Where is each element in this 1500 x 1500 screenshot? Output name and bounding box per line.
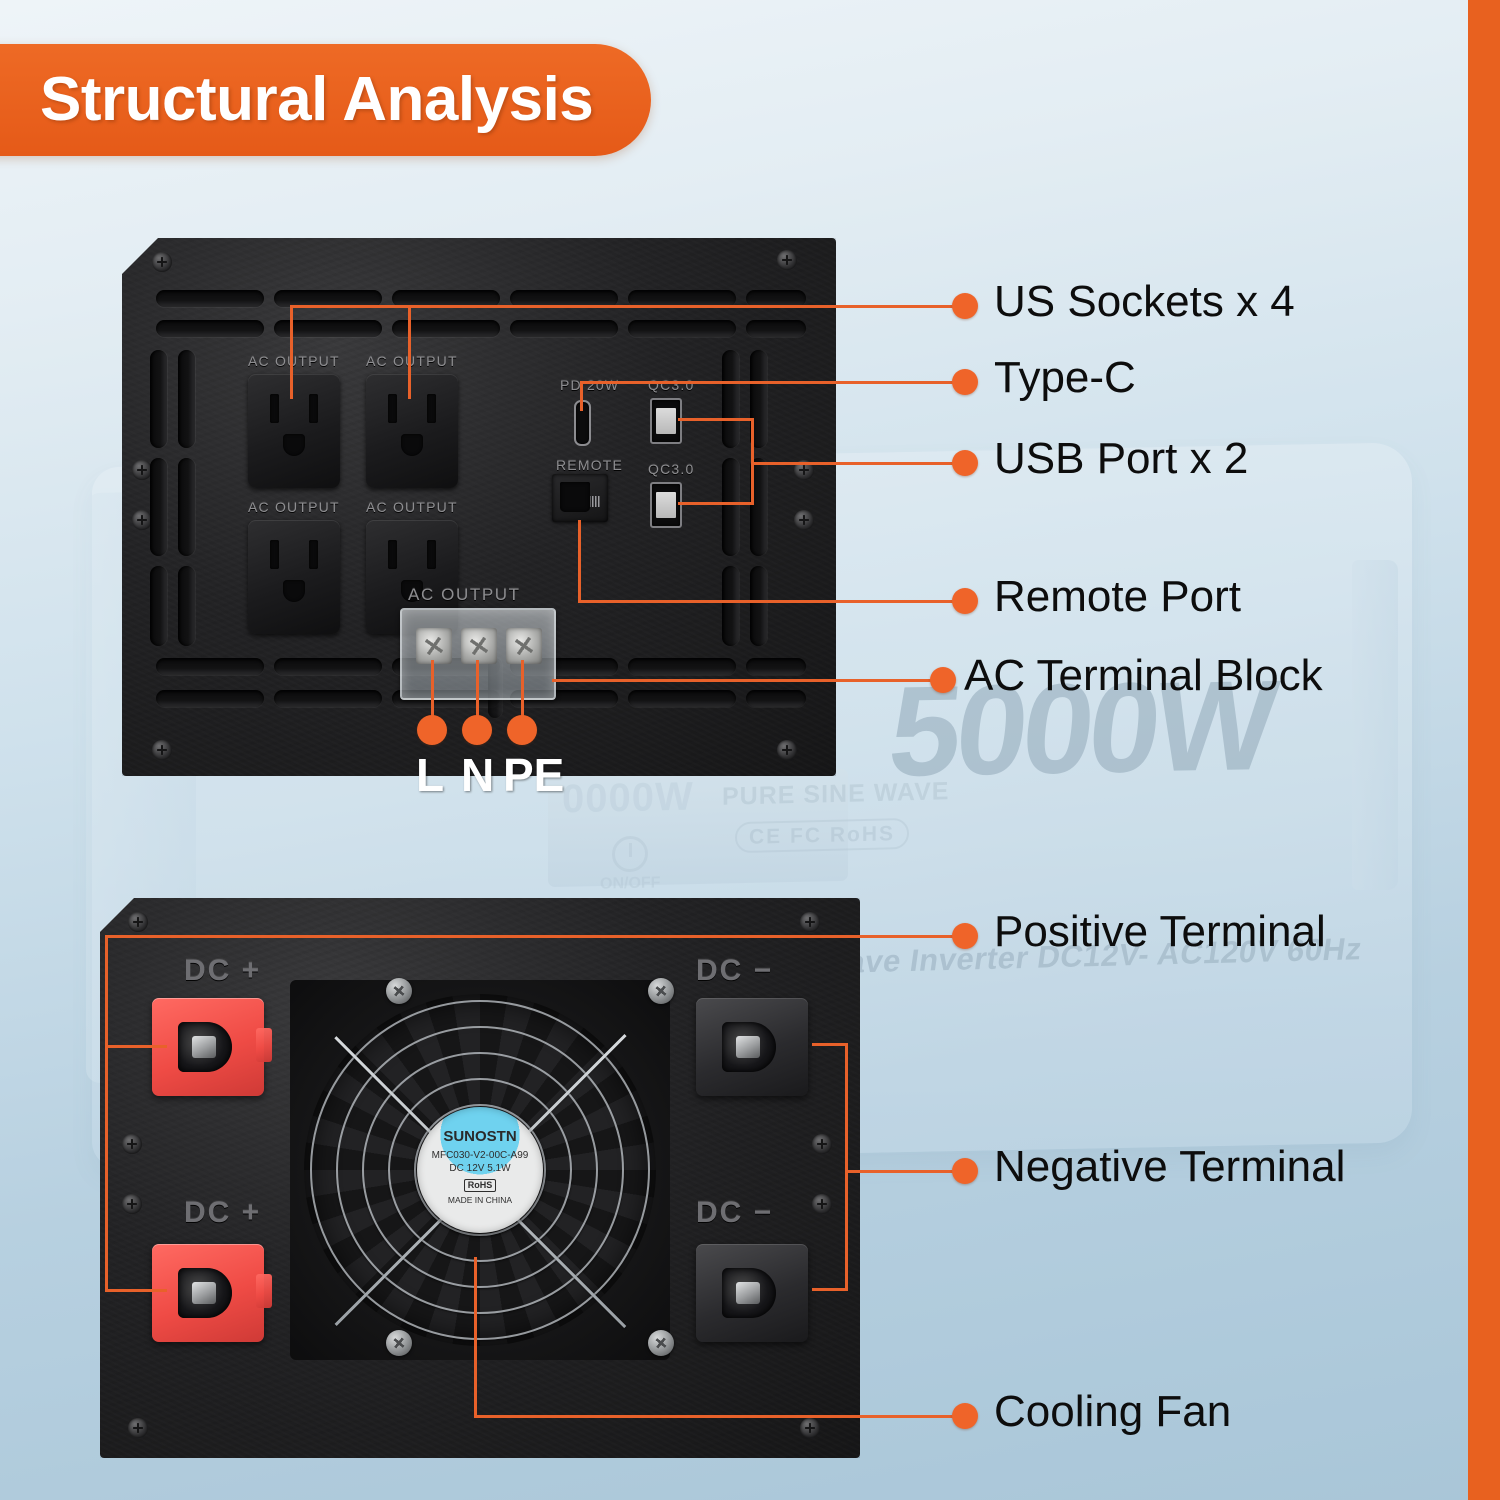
terminal-screw-pe[interactable]	[506, 628, 542, 664]
vent-slot	[722, 350, 739, 448]
callout-dot-usb	[952, 450, 978, 476]
right-accent-rail	[1468, 0, 1500, 1500]
socket-label-2: AC OUTPUT	[366, 354, 458, 368]
fan-origin: MADE IN CHINA	[448, 1196, 512, 1205]
callout-label-us-sockets: US Sockets x 4	[994, 280, 1295, 324]
remote-port-label: REMOTE	[556, 458, 623, 472]
callout-line-usb-stub2	[678, 502, 754, 505]
lnpe-line-pe	[521, 660, 524, 722]
screw	[794, 510, 814, 530]
vent-slot	[750, 566, 767, 646]
callout-line-negative	[845, 1170, 956, 1173]
screw	[122, 1134, 142, 1154]
socket-slot	[427, 394, 436, 423]
callout-label-usb: USB Port x 2	[994, 437, 1248, 481]
callout-line-usb	[751, 462, 956, 465]
callout-line-us-sockets-stub2	[408, 305, 411, 399]
screw	[152, 740, 172, 760]
screw	[812, 1134, 832, 1154]
callout-line-positive-stub-top	[105, 935, 345, 938]
fan-brand: SUNOSTN	[443, 1129, 516, 1144]
screw	[800, 1418, 820, 1438]
callout-line-usb-stub1	[678, 418, 754, 421]
ghost-product-side-tab	[1352, 560, 1398, 890]
screw	[800, 912, 820, 932]
callout-line-positive-bracket	[105, 935, 108, 1292]
screw	[152, 252, 172, 272]
terminal-bolt	[178, 1022, 232, 1072]
pin-label-pe: PE	[503, 752, 564, 798]
vent-slot	[156, 690, 264, 707]
usb-port-2[interactable]	[650, 482, 682, 528]
fan-mount-screw	[648, 978, 674, 1004]
fan-mount-screw	[386, 1330, 412, 1356]
callout-line-type-c-stub	[580, 381, 583, 411]
callout-dot-us-sockets	[952, 293, 978, 319]
vent-slot	[722, 566, 739, 646]
title-banner: Structural Analysis	[0, 44, 651, 156]
callout-line-negative-stub-top	[812, 1043, 848, 1046]
callout-dot-positive	[952, 923, 978, 949]
screw	[122, 1194, 142, 1214]
ghost-power-label: ON/OFF	[600, 874, 660, 892]
vent-slot	[274, 690, 382, 707]
screw	[777, 250, 797, 270]
vent-slot	[510, 320, 618, 337]
vent-slot	[746, 690, 806, 707]
screw	[777, 740, 797, 760]
callout-label-ac-terminal: AC Terminal Block	[964, 654, 1323, 698]
callout-dot-ac-terminal	[930, 667, 956, 693]
socket-slot	[427, 540, 436, 569]
fan-model: MFC030-V2-00C-A99	[432, 1150, 529, 1163]
socket-slot	[270, 540, 279, 569]
vent-slot	[628, 320, 736, 337]
ghost-display-value: 0000W	[562, 777, 694, 820]
callout-dot-negative	[952, 1158, 978, 1184]
vent-slot	[156, 658, 264, 675]
vent-slot	[150, 458, 167, 556]
vent-slot	[178, 566, 195, 646]
remote-port-connector[interactable]	[552, 474, 608, 522]
callout-label-positive: Positive Terminal	[994, 910, 1326, 954]
terminal-tab	[256, 1274, 272, 1308]
infographic-canvas: 0000W PURE SINE WAVE CE FC RoHS ON/OFF 5…	[0, 0, 1500, 1500]
vent-slot	[150, 350, 167, 448]
socket-label-3: AC OUTPUT	[248, 500, 340, 514]
terminal-tab	[256, 1028, 272, 1062]
us-socket-3[interactable]	[248, 520, 340, 634]
dc-positive-label-2: DC +	[184, 1198, 261, 1228]
callout-label-remote: Remote Port	[994, 575, 1241, 619]
us-socket-2[interactable]	[366, 374, 458, 488]
fan-mount-screw	[648, 1330, 674, 1356]
dc-positive-label-1: DC +	[184, 956, 261, 986]
socket-slot	[270, 394, 279, 423]
vent-slot	[274, 658, 382, 675]
vent-slot	[746, 320, 806, 337]
callout-line-positive-stub-mid	[105, 1045, 167, 1048]
fan-mount-screw	[386, 978, 412, 1004]
qc-port-label-2: QC3.0	[648, 462, 694, 476]
screw	[132, 460, 152, 480]
socket-ground	[283, 580, 305, 602]
vent-slot	[178, 350, 195, 448]
socket-slot	[388, 394, 397, 423]
dc-negative-terminal-1[interactable]	[696, 998, 808, 1096]
ghost-power-button: ON/OFF	[600, 835, 660, 892]
callout-line-positive	[345, 935, 956, 938]
dc-negative-label-1: DC −	[696, 956, 773, 986]
vent-slot	[156, 290, 264, 307]
dc-negative-label-2: DC −	[696, 1198, 773, 1228]
callout-line-negative-bracket	[845, 1043, 848, 1291]
callout-dot-fan	[952, 1403, 978, 1429]
terminal-bolt	[722, 1268, 776, 1318]
lnpe-line-l	[431, 660, 434, 722]
callout-dot-type-c	[952, 369, 978, 395]
ghost-display-screen	[548, 769, 848, 887]
socket-slot	[309, 540, 318, 569]
dc-positive-terminal-1[interactable]	[152, 998, 264, 1096]
callout-line-us-sockets	[290, 305, 956, 308]
vent-slot	[722, 458, 739, 556]
vent-slot	[156, 320, 264, 337]
terminal-bolt	[722, 1022, 776, 1072]
lnpe-line-n	[476, 660, 479, 722]
vent-slot	[746, 658, 806, 675]
fan-cert: RoHS	[464, 1179, 497, 1192]
screw	[132, 510, 152, 530]
lnpe-dot-pe	[507, 715, 537, 745]
screw	[812, 1194, 832, 1214]
vent-slot	[178, 458, 195, 556]
dc-negative-terminal-2[interactable]	[696, 1244, 808, 1342]
callout-label-fan: Cooling Fan	[994, 1390, 1231, 1434]
terminal-block-label: AC OUTPUT	[408, 586, 521, 603]
callout-line-us-sockets-stub1	[290, 305, 293, 399]
socket-label-1: AC OUTPUT	[248, 354, 340, 368]
ghost-wave-type-text: PURE SINE WAVE	[722, 779, 949, 810]
screw	[128, 912, 148, 932]
socket-ground	[283, 434, 305, 456]
callout-line-fan-stub	[474, 1257, 477, 1417]
socket-slot	[309, 394, 318, 423]
vent-slot	[628, 658, 736, 675]
ghost-certification-badges: CE FC RoHS	[735, 818, 909, 853]
socket-slot	[388, 540, 397, 569]
cooling-fan: SUNOSTN MFC030-V2-00C-A99 DC 12V 5.1W Ro…	[290, 980, 670, 1360]
callout-line-remote-stub	[578, 520, 581, 602]
terminal-bolt	[178, 1268, 232, 1318]
screw	[128, 1418, 148, 1438]
dc-positive-terminal-2[interactable]	[152, 1244, 264, 1342]
callout-line-type-c	[580, 381, 956, 384]
page-title: Structural Analysis	[40, 69, 593, 131]
callout-line-fan	[474, 1415, 956, 1418]
callout-dot-remote	[952, 588, 978, 614]
callout-line-negative-stub-low	[812, 1288, 848, 1291]
us-socket-1[interactable]	[248, 374, 340, 488]
usb-port-1[interactable]	[650, 398, 682, 444]
callout-label-negative: Negative Terminal	[994, 1145, 1345, 1189]
socket-label-4: AC OUTPUT	[366, 500, 458, 514]
terminal-screw-n[interactable]	[461, 628, 497, 664]
lnpe-dot-l	[417, 715, 447, 745]
callout-line-remote	[578, 600, 956, 603]
pin-label-l: L	[416, 752, 444, 798]
callout-line-positive-stub-low	[105, 1289, 167, 1292]
callout-line-ac-terminal	[552, 679, 934, 682]
pin-label-n: N	[461, 752, 494, 798]
lnpe-dot-n	[462, 715, 492, 745]
vent-slot	[150, 566, 167, 646]
callout-label-type-c: Type-C	[994, 356, 1136, 400]
power-icon	[612, 836, 648, 873]
terminal-screw-l[interactable]	[416, 628, 452, 664]
vent-slot	[628, 690, 736, 707]
fan-spec: DC 12V 5.1W	[449, 1163, 510, 1176]
socket-ground	[401, 434, 423, 456]
fan-spec-label: SUNOSTN MFC030-V2-00C-A99 DC 12V 5.1W Ro…	[417, 1107, 543, 1233]
